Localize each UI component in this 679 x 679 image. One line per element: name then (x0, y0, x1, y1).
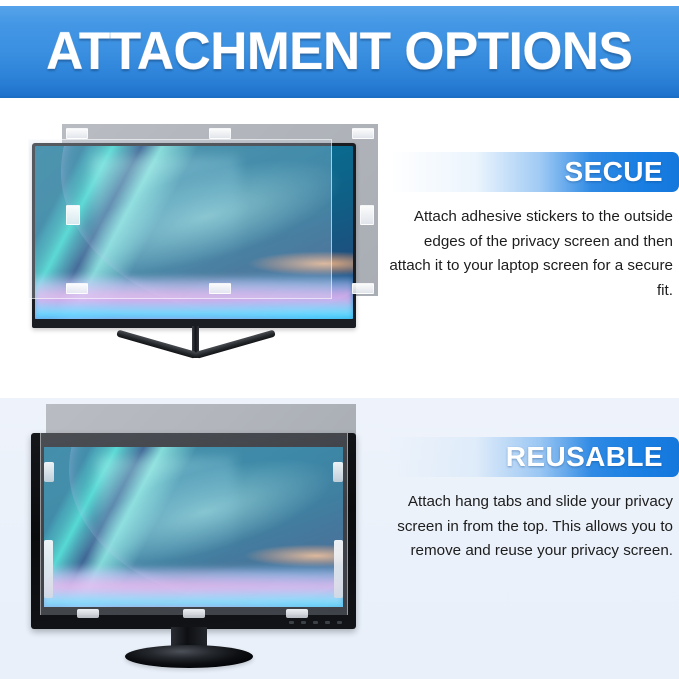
adhesive-sticker (352, 128, 374, 139)
control-button-icon[interactable] (301, 621, 306, 624)
monitor-control-buttons[interactable] (289, 621, 342, 624)
monitor-stand-base-reusable (125, 645, 253, 668)
adhesive-sticker (209, 283, 231, 294)
adhesive-sticker (66, 283, 88, 294)
hang-tab (334, 540, 343, 598)
header-banner: ATTACHMENT OPTIONS (0, 6, 679, 98)
text-block-reusable: REUSABLE Attach hang tabs and slide your… (389, 437, 679, 564)
infographic-page: ATTACHMENT OPTIONS (0, 0, 679, 679)
monitor-stand-foot-secure (120, 352, 272, 380)
adhesive-sticker (360, 205, 374, 225)
power-button-icon[interactable] (337, 621, 342, 624)
label-secure: SECUE (565, 156, 663, 188)
control-button-icon[interactable] (313, 621, 318, 624)
wallpaper-bottom-glow (35, 274, 353, 319)
hang-tab (333, 462, 343, 482)
description-reusable: Attach hang tabs and slide your privacy … (389, 490, 679, 564)
wallpaper-art (44, 447, 343, 607)
hang-tab (183, 609, 205, 618)
label-bar-secure: SECUE (389, 152, 679, 192)
page-title: ATTACHMENT OPTIONS (46, 25, 632, 78)
adhesive-sticker (209, 128, 231, 139)
hang-tab (44, 540, 53, 598)
control-button-icon[interactable] (325, 621, 330, 624)
control-button-icon[interactable] (289, 621, 294, 624)
description-secure: Attach adhesive stickers to the outside … (389, 205, 679, 304)
monitor-reusable (31, 433, 356, 629)
wallpaper-bottom-glow (44, 565, 343, 607)
hang-tab (286, 609, 308, 618)
hang-tab (77, 609, 99, 618)
monitor-secure (32, 143, 356, 328)
adhesive-sticker (66, 205, 80, 225)
label-bar-reusable: REUSABLE (389, 437, 679, 477)
adhesive-sticker (66, 128, 88, 139)
monitor-screen-reusable (44, 447, 343, 607)
label-reusable: REUSABLE (506, 441, 663, 473)
text-block-secure: SECUE Attach adhesive stickers to the ou… (389, 152, 679, 304)
hang-tab (44, 462, 54, 482)
adhesive-sticker (352, 283, 374, 294)
